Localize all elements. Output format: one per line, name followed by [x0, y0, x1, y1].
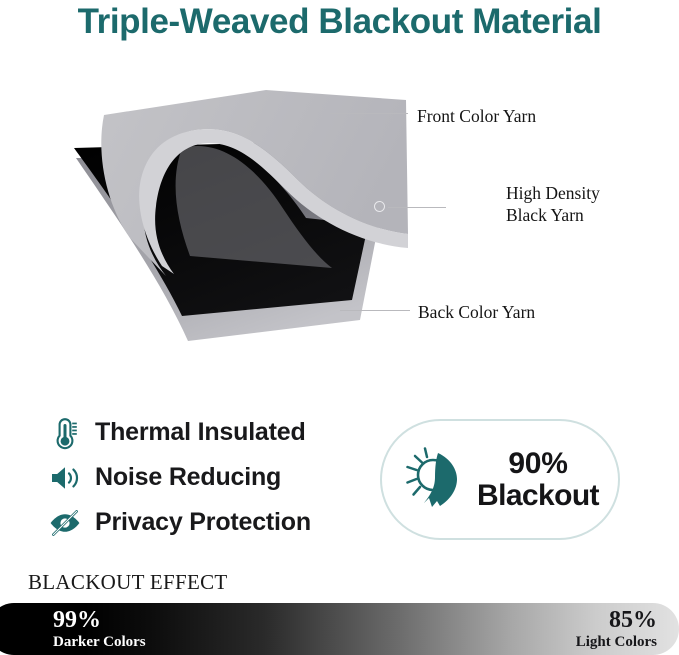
feature-item-privacy-protection: Privacy Protection — [44, 500, 364, 545]
label-back-color-yarn: Back Color Yarn — [418, 301, 535, 323]
leader-line-high-density-black-yarn — [388, 207, 446, 208]
sun-blocked-curtain-icon — [401, 446, 473, 514]
feature-label-noise-reducing: Noise Reducing — [95, 463, 281, 492]
page-title: Triple-Weaved Blackout Material — [0, 2, 679, 42]
feature-item-noise-reducing: Noise Reducing — [44, 455, 364, 500]
feature-label-privacy-protection: Privacy Protection — [95, 508, 311, 537]
blackout-badge-word: Blackout — [477, 479, 599, 512]
blackout-badge-percent: 90% — [508, 447, 567, 480]
speaker-sound-icon — [44, 463, 86, 493]
label-high-density-line1: High Density — [506, 182, 600, 204]
blackout-badge-text: 90% Blackout — [477, 448, 599, 510]
blackout-effect-left-caption: Darker Colors — [53, 635, 146, 650]
leader-line-back-color-yarn — [340, 310, 410, 311]
blackout-badge: 90% Blackout — [380, 419, 620, 540]
blackout-effect-right-percent: 85% — [576, 608, 657, 632]
eye-slash-icon — [44, 510, 86, 536]
feature-label-thermal-insulated: Thermal Insulated — [95, 418, 306, 447]
feature-list: Thermal Insulated Noise Reducing Privacy… — [44, 410, 364, 545]
label-high-density-line2: Black Yarn — [506, 204, 600, 226]
feature-item-thermal-insulated: Thermal Insulated — [44, 410, 364, 455]
blackout-effect-left-group: 99% Darker Colors — [53, 608, 146, 650]
blackout-effect-right-caption: Light Colors — [576, 635, 657, 650]
label-high-density-black-yarn: High Density Black Yarn — [506, 182, 600, 227]
high-density-marker-dot-icon — [374, 201, 385, 212]
blackout-effect-right-group: 85% Light Colors — [576, 608, 657, 650]
blackout-effect-left-percent: 99% — [53, 608, 146, 632]
thermometer-icon — [44, 416, 86, 450]
label-front-color-yarn: Front Color Yarn — [417, 105, 536, 127]
blackout-effect-heading: BLACKOUT EFFECT — [28, 570, 228, 595]
leader-line-front-color-yarn — [330, 113, 408, 114]
